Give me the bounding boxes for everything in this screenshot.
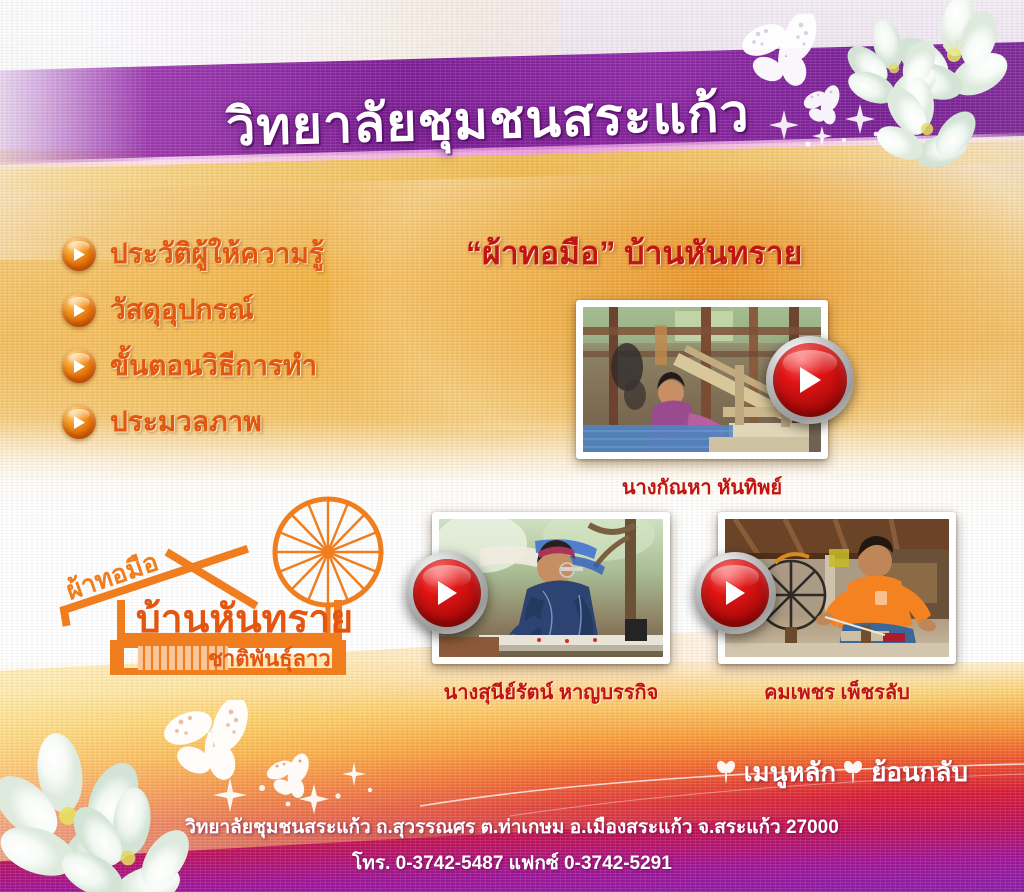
video-caption-1: นางสุนีย์รัตน์ หาญบรรกิจ (432, 676, 670, 708)
play-button-inner-1 (413, 559, 481, 627)
main-menu: ประวัติผู้ให้ความรู้ วัสดุอุปกรณ์ ขั้นตอ… (62, 226, 442, 450)
menu-item-label-1: วัสดุอุปกรณ์ (110, 288, 254, 332)
logo-text-main: บ้านหันทราย (136, 598, 353, 641)
butterfly-bullet-icon (842, 760, 864, 786)
play-triangle-icon (62, 293, 96, 327)
footer-address-line1: วิทยาลัยชุมชนสระแก้ว ถ.สุวรรณศร ต.ท่าเกษ… (0, 812, 1024, 842)
footer-nav-item-0[interactable]: เมนูหลัก (715, 752, 837, 793)
menu-item-label-2: ขั้นตอนวิธีการทำ (110, 344, 317, 388)
play-triangle-icon (723, 579, 747, 607)
play-button-2[interactable] (694, 552, 776, 634)
menu-item-1[interactable]: วัสดุอุปกรณ์ (62, 282, 442, 338)
menu-item-label-0: ประวัติผู้ให้ความรู้ (110, 232, 324, 276)
menu-item-label-3: ประมวลภาพ (110, 400, 262, 444)
footer-address-line2: โทร. 0-3742-5487 แฟกซ์ 0-3742-5291 (0, 848, 1024, 878)
play-button-inner-0 (773, 343, 847, 417)
play-triangle-icon (435, 579, 459, 607)
play-button-0[interactable] (766, 336, 854, 424)
play-triangle-icon (797, 365, 823, 395)
video-card-1: นางสุนีย์รัตน์ หาญบรรกิจ (432, 512, 670, 708)
brand-logo: ผ้าทอมือ บ้านหันทราย ชาติพันธุ์ลาว (48, 492, 398, 678)
menu-item-2[interactable]: ขั้นตอนวิธีการทำ (62, 338, 442, 394)
video-card-0: นางกัณหา หันทิพย์ (576, 300, 828, 503)
video-caption-2: คมเพชร เพ็ชรลับ (718, 676, 956, 708)
page-title: วิทยาลัยชุมชนสระแก้ว (225, 71, 751, 169)
section-heading: “ผ้าทอมือ” บ้านหันทราย (466, 228, 802, 279)
page-root: วิทยาลัยชุมชนสระแก้ว (0, 0, 1024, 892)
menu-item-3[interactable]: ประมวลภาพ (62, 394, 442, 450)
video-caption-0: นางกัณหา หันทิพย์ (576, 471, 828, 503)
footer-nav: เมนูหลัก ย้อนกลับ (715, 752, 968, 793)
menu-item-0[interactable]: ประวัติผู้ให้ความรู้ (62, 226, 442, 282)
play-triangle-icon (62, 405, 96, 439)
footer-nav-item-1[interactable]: ย้อนกลับ (842, 752, 968, 793)
butterfly-bullet-icon (715, 760, 737, 786)
play-button-1[interactable] (406, 552, 488, 634)
footer-nav-label-1: ย้อนกลับ (871, 752, 968, 793)
play-triangle-icon (62, 349, 96, 383)
video-card-2: คมเพชร เพ็ชรลับ (718, 512, 956, 708)
footer-nav-label-0: เมนูหลัก (744, 752, 837, 793)
play-button-inner-2 (701, 559, 769, 627)
logo-text-sub: ชาติพันธุ์ลาว (208, 646, 331, 673)
play-triangle-icon (62, 237, 96, 271)
